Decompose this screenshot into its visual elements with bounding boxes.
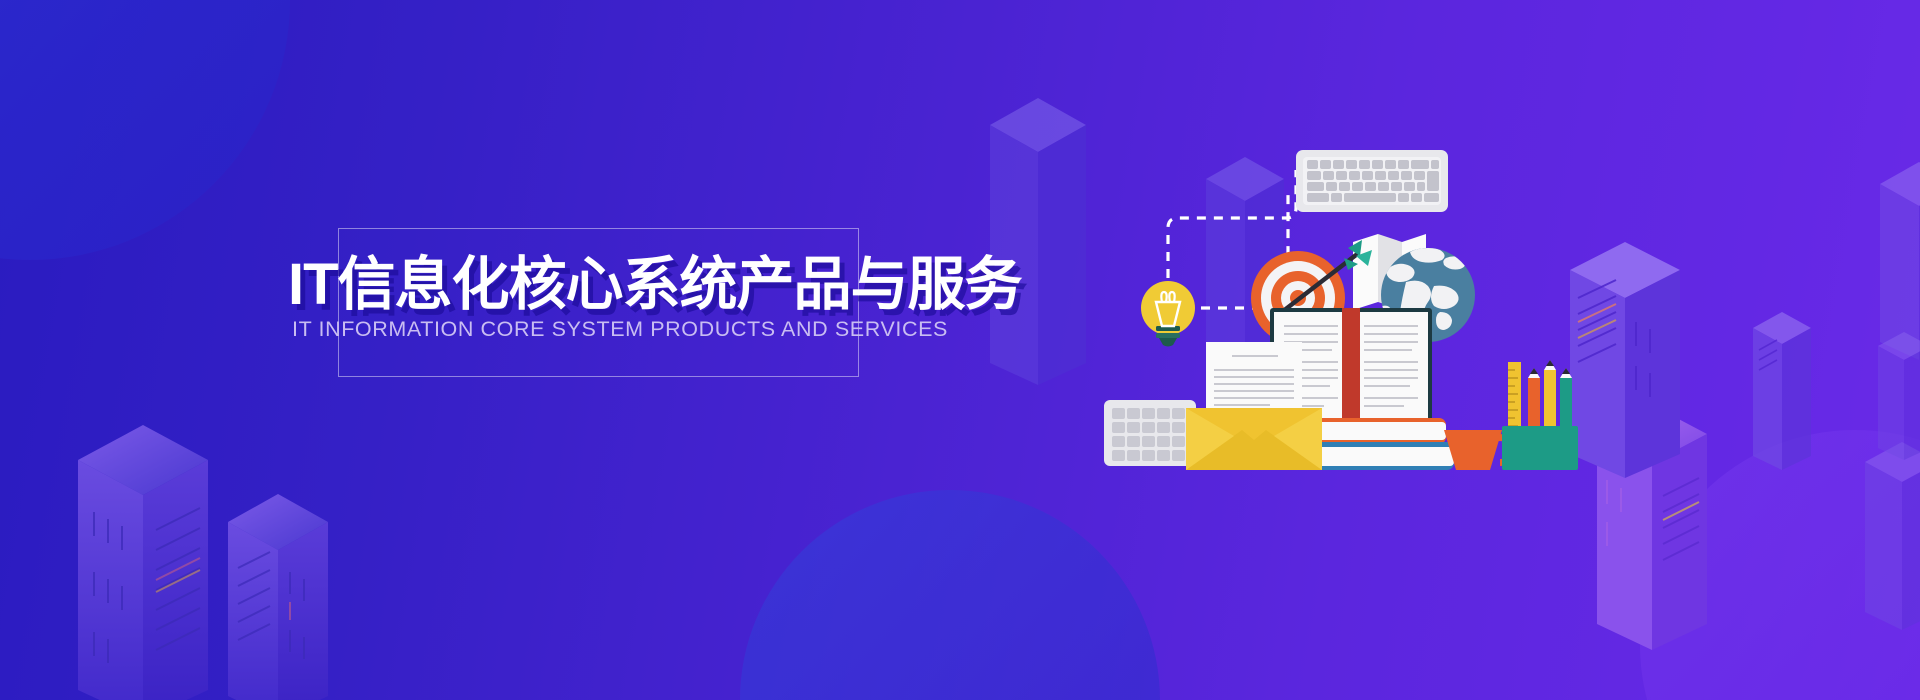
page-subtitle: IT INFORMATION CORE SYSTEM PRODUCTS AND … xyxy=(292,319,932,341)
keyboard-left-icon xyxy=(1104,400,1196,466)
keyboard-top-icon xyxy=(1296,150,1448,212)
hero-illustration xyxy=(1110,130,1530,470)
hero-text-block: IT信息化核心系统产品与服务 IT INFORMATION CORE SYSTE… xyxy=(338,228,859,377)
circle-bottom-center-decor xyxy=(740,490,1160,700)
building-left-short xyxy=(228,490,328,700)
building-left-tall xyxy=(78,420,208,700)
lightbulb-icon xyxy=(1141,281,1195,347)
circle-top-left-decor xyxy=(0,0,290,260)
building-right-d xyxy=(1865,440,1920,630)
envelope-icon xyxy=(1186,408,1322,470)
building-mid-a xyxy=(990,95,1086,385)
building-right-e xyxy=(1753,310,1811,470)
page-title: IT信息化核心系统产品与服务 xyxy=(288,256,928,314)
building-right-f xyxy=(1878,330,1920,460)
hero-banner: IT信息化核心系统产品与服务 IT INFORMATION CORE SYSTE… xyxy=(0,0,1920,700)
building-right-b xyxy=(1570,238,1680,478)
pencil-holder-icon xyxy=(1502,360,1578,470)
